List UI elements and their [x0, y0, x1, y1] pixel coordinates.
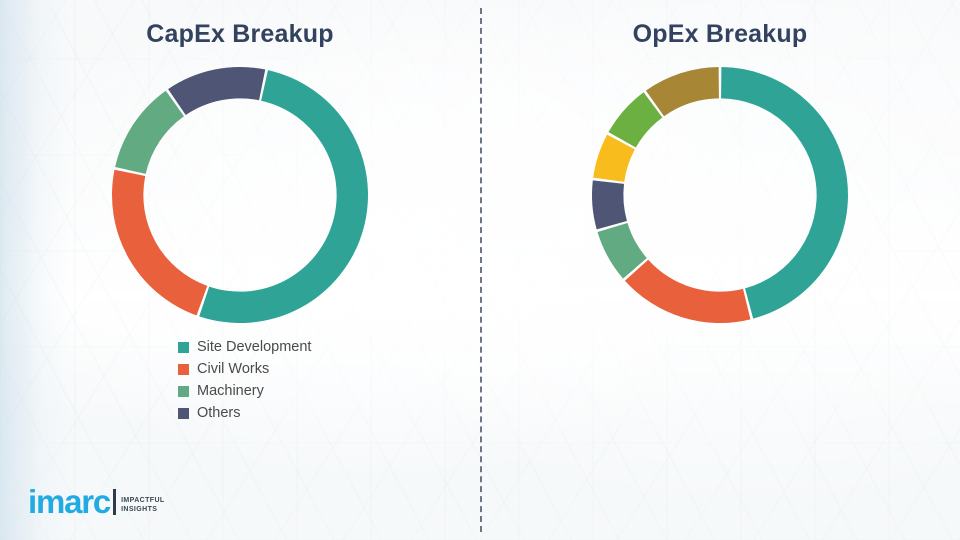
legend-capex: Site DevelopmentCivil WorksMachineryOthe…	[178, 336, 311, 424]
page-title-opex: OpEx Breakup	[480, 20, 960, 49]
legend-item[interactable]: Machinery	[178, 380, 311, 402]
donut-capex-svg: Site DevelopmentCivil WorksMachineryOthe…	[108, 63, 372, 327]
panel-capex: CapEx Breakup Site DevelopmentCivil Work…	[0, 0, 480, 540]
donut-slice: Transportation	[592, 180, 627, 229]
donut-slice: Raw Materials	[721, 67, 848, 319]
donut-chart-capex: Site DevelopmentCivil WorksMachineryOthe…	[108, 63, 372, 327]
legend-swatch-icon	[178, 408, 189, 419]
legend-item[interactable]: Others	[178, 402, 311, 424]
donut-slice: Others	[168, 67, 265, 115]
page-title-capex: CapEx Breakup	[0, 20, 480, 49]
legend-item-label: Machinery	[197, 384, 264, 399]
logo-tagline-line2: INSIGHTS	[121, 505, 165, 514]
donut-opex-svg: Raw MaterialsSalaries and WagesUtilityTr…	[588, 63, 852, 327]
donut-chart-opex: Raw MaterialsSalaries and WagesUtilityTr…	[588, 63, 852, 327]
donut-slice: Machinery	[115, 91, 184, 174]
logo-wordmark: imarc	[28, 487, 110, 517]
panel-divider	[480, 8, 482, 532]
donut-slice: Others	[646, 67, 719, 116]
legend-item[interactable]: Site Development	[178, 336, 311, 358]
legend-item-label: Civil Works	[197, 362, 269, 377]
slide-canvas: CapEx Breakup Site DevelopmentCivil Work…	[0, 0, 960, 540]
donut-slice: Civil Works	[112, 170, 207, 316]
legend-swatch-icon	[178, 364, 189, 375]
logo-divider-bar	[113, 489, 116, 515]
legend-item-label: Others	[197, 406, 241, 421]
logo-tagline-line1: IMPACTFUL	[121, 496, 165, 505]
imarc-logo: imarc IMPACTFUL INSIGHTS	[28, 487, 165, 517]
legend-item[interactable]: Civil Works	[178, 358, 311, 380]
legend-swatch-icon	[178, 386, 189, 397]
panel-opex: OpEx Breakup Raw MaterialsSalaries and W…	[480, 0, 960, 540]
logo-tagline: IMPACTFUL INSIGHTS	[121, 496, 165, 517]
donut-slice: Salaries and Wages	[625, 260, 751, 323]
legend-item-label: Site Development	[197, 340, 311, 355]
donut-slice: Site Development	[199, 70, 368, 323]
legend-swatch-icon	[178, 342, 189, 353]
